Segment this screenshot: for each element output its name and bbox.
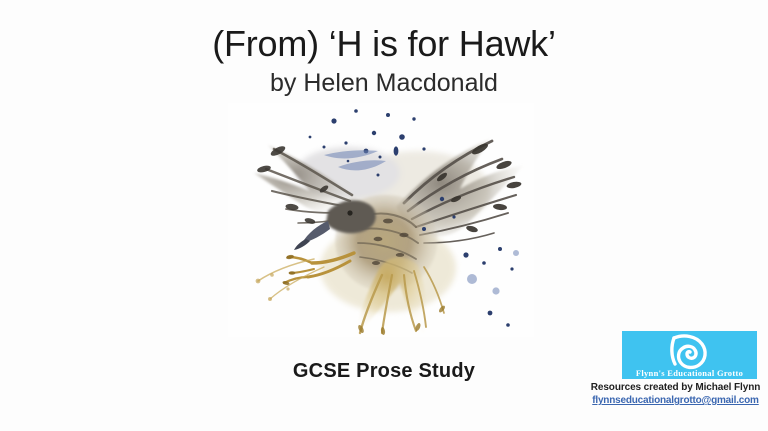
branding-block: Flynn's Educational Grotto Resources cre… (588, 331, 763, 406)
flynns-educational-grotto-logo: Flynn's Educational Grotto (622, 331, 757, 379)
hawk-illustration (228, 103, 534, 337)
grotto-spiral-icon (664, 332, 712, 372)
email-link[interactable]: flynnseducationalgrotto@gmail.com (588, 395, 763, 406)
slide-caption: GCSE Prose Study (293, 360, 475, 382)
presentation-slide: (From) ‘H is for Hawk’ by Helen Macdonal… (0, 0, 768, 431)
logo-caption: Flynn's Educational Grotto (622, 368, 757, 378)
title-block: (From) ‘H is for Hawk’ by Helen Macdonal… (0, 24, 768, 99)
credit-text: Resources created by Michael Flynn (588, 382, 763, 393)
page-title: (From) ‘H is for Hawk’ (0, 24, 768, 64)
page-subtitle: by Helen Macdonald (0, 68, 768, 99)
